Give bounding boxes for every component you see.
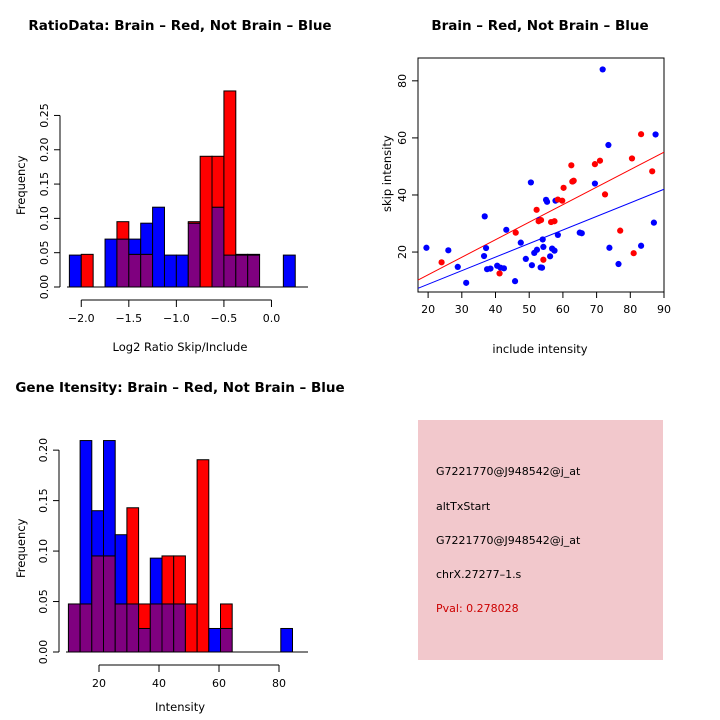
histogram-bar (80, 441, 92, 604)
histogram-bar (141, 254, 153, 287)
scatter-point (534, 247, 540, 253)
scatter-point (555, 232, 561, 238)
scatter-point (649, 168, 655, 174)
panel-gene-intensity-histogram: Gene Itensity: Brain – Red, Not Brain – … (0, 360, 360, 720)
scatter-point (592, 161, 598, 167)
histogram-bar (248, 254, 260, 255)
scatter-point (483, 245, 489, 251)
histogram-bar (129, 254, 141, 287)
x-tick-label: 40 (152, 677, 166, 690)
scatter-point (518, 240, 524, 246)
scatter-point (605, 142, 611, 148)
scatter-point (481, 253, 487, 259)
ratio-histogram-plot: 0.000.050.100.150.200.25−2.0−1.5−1.0−0.5… (0, 0, 360, 330)
histogram-bar (127, 604, 139, 652)
scatter-point (571, 178, 577, 184)
histogram-bar (162, 604, 174, 652)
y-tick-label: 0.05 (37, 589, 50, 614)
scatter-point (602, 191, 608, 197)
scatter-point (455, 264, 461, 270)
scatter-point (600, 66, 606, 72)
annotation-line-event-type: altTxStart (436, 500, 490, 513)
histogram-bar (150, 558, 162, 604)
histogram-bar (224, 91, 236, 255)
histogram-bar (69, 255, 81, 287)
x-tick-label: 20 (92, 677, 106, 690)
scatter-point (523, 256, 529, 262)
scatter-point (482, 213, 488, 219)
scatter-point (540, 257, 546, 263)
histogram-bar (174, 556, 186, 604)
histogram-bar (104, 441, 116, 556)
histogram-bar (115, 535, 127, 604)
histogram-bar (236, 255, 248, 287)
y-tick-label: 0.10 (37, 539, 50, 564)
histogram-bar (164, 255, 176, 287)
scatter-point (597, 158, 603, 164)
scatter-point (528, 179, 534, 185)
scatter-point (560, 185, 566, 191)
histogram-bar (221, 628, 233, 652)
y-tick-label: 0.00 (37, 640, 50, 665)
annotation-line-pvalue: Pval: 0.278028 (436, 602, 519, 615)
histogram-bar (153, 207, 165, 287)
scatter-plot: 204060802030405060708090 (360, 0, 720, 335)
histogram-bar (188, 222, 200, 224)
annotation-panel: G7221770@J948542@j_at altTxStart G722177… (418, 420, 663, 660)
histogram-bar (185, 604, 197, 652)
figure-canvas: RatioData: Brain – Red, Not Brain – Blue… (0, 0, 720, 720)
x-tick-label: 80 (623, 303, 637, 316)
x-tick-label: 90 (657, 303, 671, 316)
x-tick-label: 20 (421, 303, 435, 316)
x-tick-label: −0.5 (211, 312, 238, 325)
x-tick-label: −2.0 (68, 312, 95, 325)
histogram-bar (81, 254, 93, 287)
ratio-histogram-xlabel: Log2 Ratio Skip/Include (0, 340, 360, 354)
histogram-bar (127, 508, 139, 604)
histogram-bar (248, 255, 260, 287)
scatter-point (423, 245, 429, 251)
y-tick-label: 0.05 (38, 240, 51, 264)
scatter-point (539, 265, 545, 271)
annotation-line-probeset-1: G7221770@J948542@j_at (436, 465, 580, 478)
x-tick-label: 30 (455, 303, 469, 316)
scatter-point (638, 243, 644, 249)
x-tick-label: 0.0 (263, 312, 281, 325)
histogram-bar (197, 460, 209, 652)
y-tick-label: 0.15 (37, 488, 50, 512)
histogram-bar (150, 604, 162, 652)
scatter-point (551, 218, 557, 224)
histogram-bar (68, 604, 80, 652)
histogram-bar (162, 556, 174, 604)
histogram-bar (117, 222, 129, 239)
scatter-point (651, 220, 657, 226)
histogram-bar (139, 628, 151, 652)
scatter-points-group (423, 66, 658, 286)
histogram-bar (105, 239, 117, 287)
x-tick-label: −1.5 (115, 312, 142, 325)
histogram-bar (92, 556, 104, 652)
scatter-point (551, 248, 557, 254)
scatter-point (568, 162, 574, 168)
scatter-point (438, 259, 444, 265)
x-tick-label: −1.0 (163, 312, 190, 325)
scatter-point (534, 207, 540, 213)
scatter-point (638, 131, 644, 137)
histogram-bar (141, 223, 153, 254)
histogram-bar (224, 255, 236, 287)
scatter-point (615, 261, 621, 267)
scatter-point (544, 199, 550, 205)
panel-ratio-histogram: RatioData: Brain – Red, Not Brain – Blue… (0, 0, 360, 360)
scatter-point (547, 253, 553, 259)
histogram-bar (236, 254, 248, 255)
y-tick-label: 20 (396, 245, 409, 259)
scatter-point (513, 230, 519, 236)
histogram-bar (200, 156, 212, 287)
annotation-line-probeset-2: G7221770@J948542@j_at (436, 534, 580, 547)
scatter-point (631, 250, 637, 256)
histogram-bar (221, 604, 233, 629)
y-tick-label: 0.20 (37, 438, 50, 463)
scatter-point (579, 230, 585, 236)
histogram-bar (188, 223, 200, 287)
y-tick-label: 40 (396, 188, 409, 202)
histogram-bar (129, 239, 141, 254)
ratio-bars-group (69, 91, 295, 287)
scatter-point (538, 217, 544, 223)
y-tick-label: 0.20 (38, 138, 51, 163)
histogram-bar (115, 604, 127, 652)
scatter-point (559, 198, 565, 204)
annotation-line-locus: chrX.27277–1.s (436, 568, 521, 581)
scatter-point (529, 262, 535, 268)
y-tick-label: 0.15 (38, 172, 51, 197)
scatter-point (463, 280, 469, 286)
scatter-point (617, 228, 623, 234)
histogram-bar (80, 604, 92, 652)
scatter-point (540, 236, 546, 242)
gene-histogram-plot: 0.000.050.100.150.2020406080 (0, 360, 360, 690)
y-tick-label: 0.25 (38, 103, 51, 128)
scatter-point (512, 278, 518, 284)
y-tick-label: 0.00 (38, 275, 51, 300)
histogram-bar (209, 628, 221, 652)
scatter-point (629, 155, 635, 161)
histogram-bar (212, 207, 224, 287)
histogram-bar (281, 628, 293, 652)
histogram-bar (117, 239, 129, 287)
histogram-bar (139, 604, 151, 629)
x-tick-label: 50 (522, 303, 536, 316)
histogram-bar (212, 156, 224, 207)
histogram-bar (283, 255, 295, 287)
scatter-point (445, 247, 451, 253)
scatter-point (501, 265, 507, 271)
histogram-bar (176, 255, 188, 287)
histogram-bar (92, 511, 104, 556)
scatter-xlabel: include intensity (360, 342, 720, 356)
scatter-point (652, 131, 658, 137)
scatter-point (503, 227, 509, 233)
y-tick-label: 0.10 (38, 206, 51, 231)
gene-bars-group (68, 441, 292, 652)
y-tick-label: 60 (396, 131, 409, 145)
gene-histogram-xlabel: Intensity (0, 700, 360, 714)
scatter-point (540, 244, 546, 250)
x-tick-label: 80 (272, 677, 286, 690)
x-tick-label: 40 (489, 303, 503, 316)
histogram-bar (174, 604, 186, 652)
scatter-point (496, 270, 502, 276)
panel-intensity-scatter: Brain – Red, Not Brain – Blue skip inten… (360, 0, 720, 360)
scatter-point (487, 266, 493, 272)
x-tick-label: 70 (590, 303, 604, 316)
scatter-point (592, 180, 598, 186)
y-tick-label: 80 (396, 74, 409, 88)
x-tick-label: 60 (212, 677, 226, 690)
histogram-bar (104, 556, 116, 652)
scatter-point (606, 245, 612, 251)
plot-frame (418, 58, 664, 292)
x-tick-label: 60 (556, 303, 570, 316)
